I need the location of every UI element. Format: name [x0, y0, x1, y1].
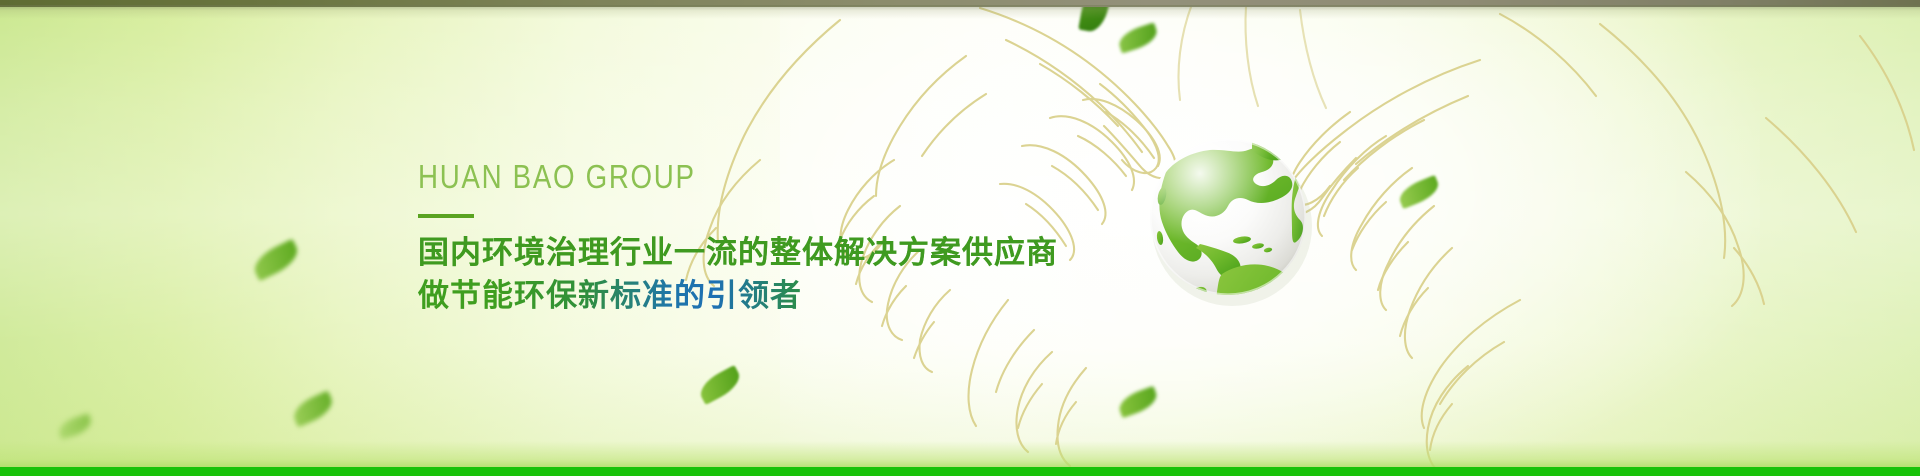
hero-banner: HUAN BAO GROUP 国内环境治理行业一流的整体解决方案供应商 做节能环… [0, 0, 1920, 476]
headline-line-1: 国内环境治理行业一流的整体解决方案供应商 [418, 232, 1178, 275]
brand-eyebrow: HUAN BAO GROUP [418, 160, 1056, 193]
top-edge-fade [0, 5, 1920, 19]
divider-rule [418, 214, 474, 218]
headline: 国内环境治理行业一流的整体解决方案供应商 做节能环保新标准的引领者 [418, 232, 1178, 318]
bottom-accent-bar [0, 467, 1920, 476]
bottom-fade [0, 441, 1920, 467]
banner-copy: HUAN BAO GROUP 国内环境治理行业一流的整体解决方案供应商 做节能环… [418, 160, 1178, 318]
headline-line-2: 做节能环保新标准的引领者 [418, 275, 1178, 318]
